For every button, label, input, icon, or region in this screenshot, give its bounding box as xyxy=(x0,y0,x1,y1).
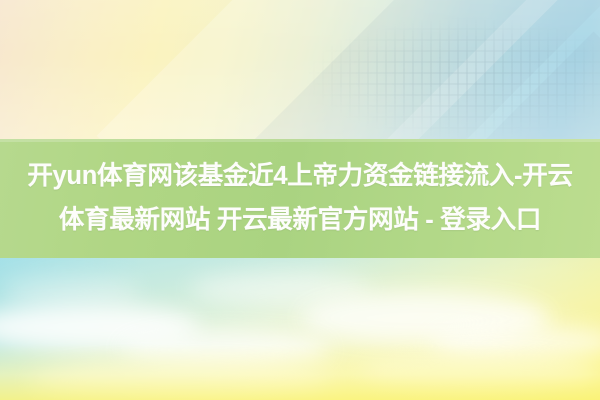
cloud-shape xyxy=(0,276,140,306)
title-line-2: 体育最新网站 开云最新官方网站 - 登录入口 xyxy=(59,208,541,234)
title-band: 开yun体育网该基金近4上帝力资金链接流入-开云 体育最新网站 开云最新官方网站… xyxy=(0,139,600,258)
banner-image: 开yun体育网该基金近4上帝力资金链接流入-开云 体育最新网站 开云最新官方网站… xyxy=(0,0,600,400)
sky-section xyxy=(0,258,600,400)
title-line-1: 开yun体育网该基金近4上帝力资金链接流入-开云 xyxy=(27,164,572,190)
top-decorative-section xyxy=(0,0,600,140)
sky-warm-overlay xyxy=(0,344,600,400)
top-fade-overlay xyxy=(0,0,600,140)
